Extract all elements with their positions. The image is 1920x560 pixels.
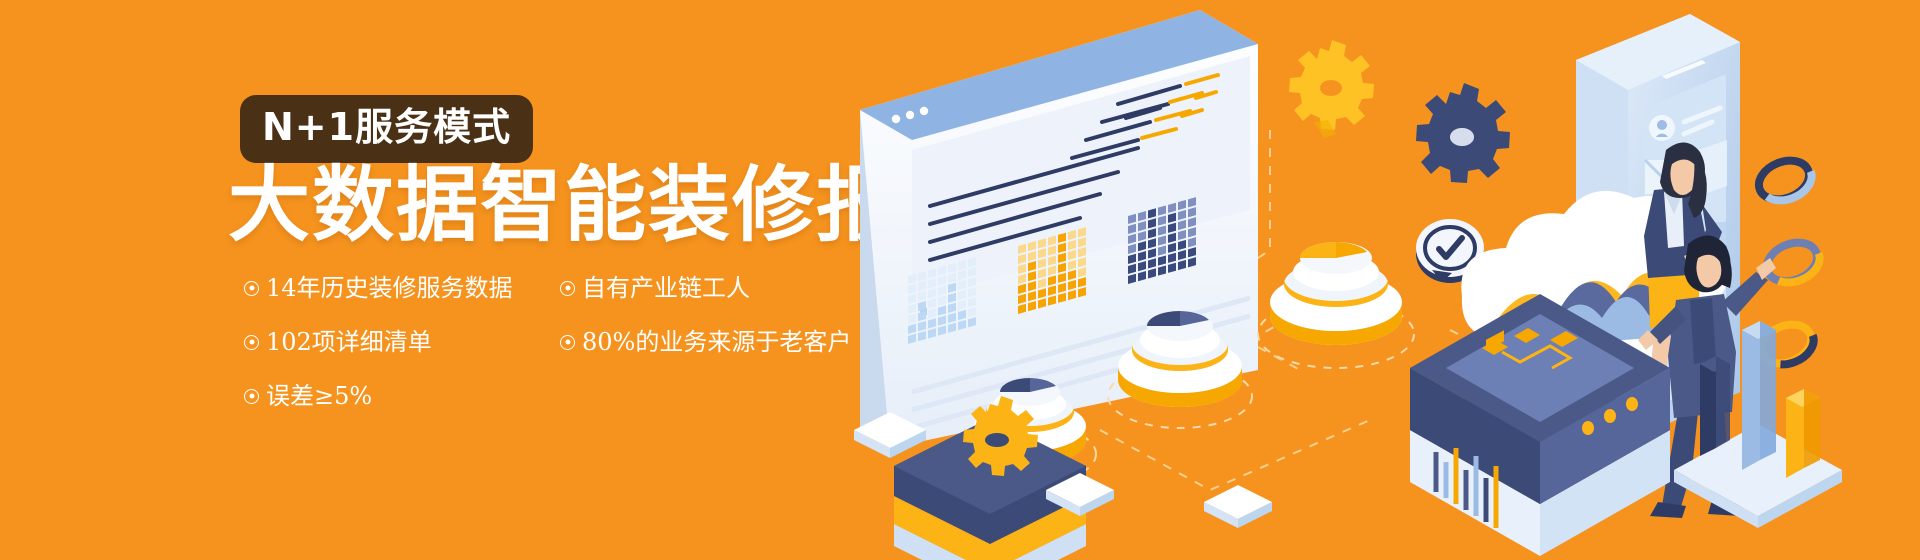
list-item-label: 80%的业务来源于老客户	[582, 330, 851, 354]
circled-dot-icon	[244, 335, 259, 350]
feature-column-right: 自有产业链工人 80%的业务来源于老客户	[560, 276, 880, 384]
list-item-label: 14年历史装修服务数据	[266, 276, 513, 300]
list-item-label: 误差≥5%	[266, 384, 372, 408]
list-item: 误差≥5%	[244, 384, 544, 408]
circled-dot-icon	[560, 335, 575, 350]
list-item: 14年历史装修服务数据	[244, 276, 544, 300]
list-item: 80%的业务来源于老客户	[560, 330, 880, 354]
orange-gear	[1289, 40, 1374, 138]
list-item: 102项详细清单	[244, 330, 544, 354]
list-item: 自有产业链工人	[560, 276, 880, 300]
promo-banner: N+1服务模式 大数据智能装修报价 14年历史装修服务数据 102项详细清单 误…	[0, 0, 1920, 560]
isometric-big-data-illustration	[850, 0, 1920, 560]
circled-dot-icon	[244, 389, 259, 404]
navy-gear	[1416, 83, 1510, 183]
list-item-label: 102项详细清单	[266, 330, 432, 354]
feature-column-left: 14年历史装修服务数据 102项详细清单 误差≥5%	[244, 276, 544, 438]
circled-dot-icon	[560, 281, 575, 296]
list-item-label: 自有产业链工人	[582, 276, 750, 300]
circled-dot-icon	[244, 281, 259, 296]
service-model-badge: N+1服务模式	[240, 95, 533, 163]
